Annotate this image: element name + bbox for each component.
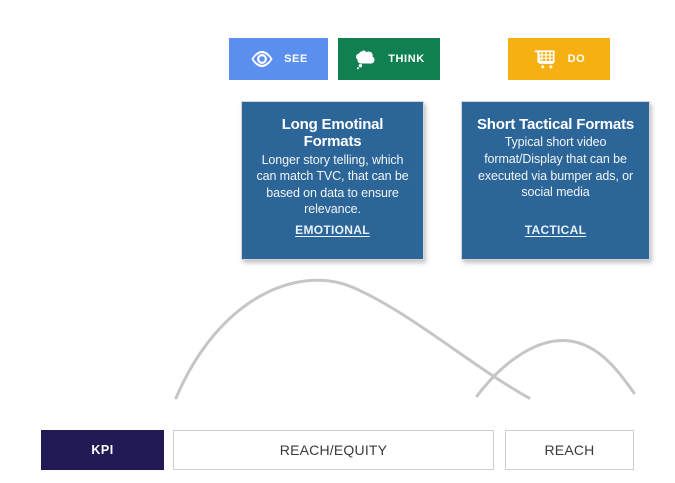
stage-badge-think[interactable]: THINK bbox=[338, 38, 440, 80]
format-card-emotional: Long Emotinal Formats Longer story telli… bbox=[241, 101, 424, 260]
card-title: Long Emotinal Formats bbox=[252, 116, 413, 151]
kpi-row-label: KPI bbox=[41, 430, 164, 470]
reach-equity-arc bbox=[176, 280, 529, 398]
card-body: Longer story telling, which can match TV… bbox=[252, 152, 413, 219]
card-title: Short Tactical Formats bbox=[472, 116, 639, 133]
stage-badge-do[interactable]: DO bbox=[508, 38, 610, 80]
reach-arc bbox=[477, 341, 634, 396]
card-link-emotional[interactable]: EMOTIONAL bbox=[242, 223, 423, 237]
card-link-tactical[interactable]: TACTICAL bbox=[462, 223, 649, 237]
stage-badge-label: DO bbox=[568, 54, 586, 65]
stage-badge-see[interactable]: SEE bbox=[229, 38, 328, 80]
kpi-cell-reach[interactable]: REACH bbox=[505, 430, 634, 470]
see-think-do-funnel-diagram: SEE THINK DO Long Emotinal Formats Longe bbox=[0, 0, 675, 483]
card-body: Typical short video format/Display that … bbox=[472, 134, 639, 201]
stage-badge-label: THINK bbox=[388, 54, 425, 65]
kpi-cell-reach-equity[interactable]: REACH/EQUITY bbox=[173, 430, 494, 470]
eye-icon bbox=[249, 46, 275, 72]
shopping-cart-icon bbox=[533, 46, 559, 72]
stage-badge-label: SEE bbox=[284, 54, 308, 65]
funnel-arc-curves bbox=[0, 255, 675, 420]
format-card-tactical: Short Tactical Formats Typical short vid… bbox=[461, 101, 650, 260]
thought-bubble-icon bbox=[353, 46, 379, 72]
